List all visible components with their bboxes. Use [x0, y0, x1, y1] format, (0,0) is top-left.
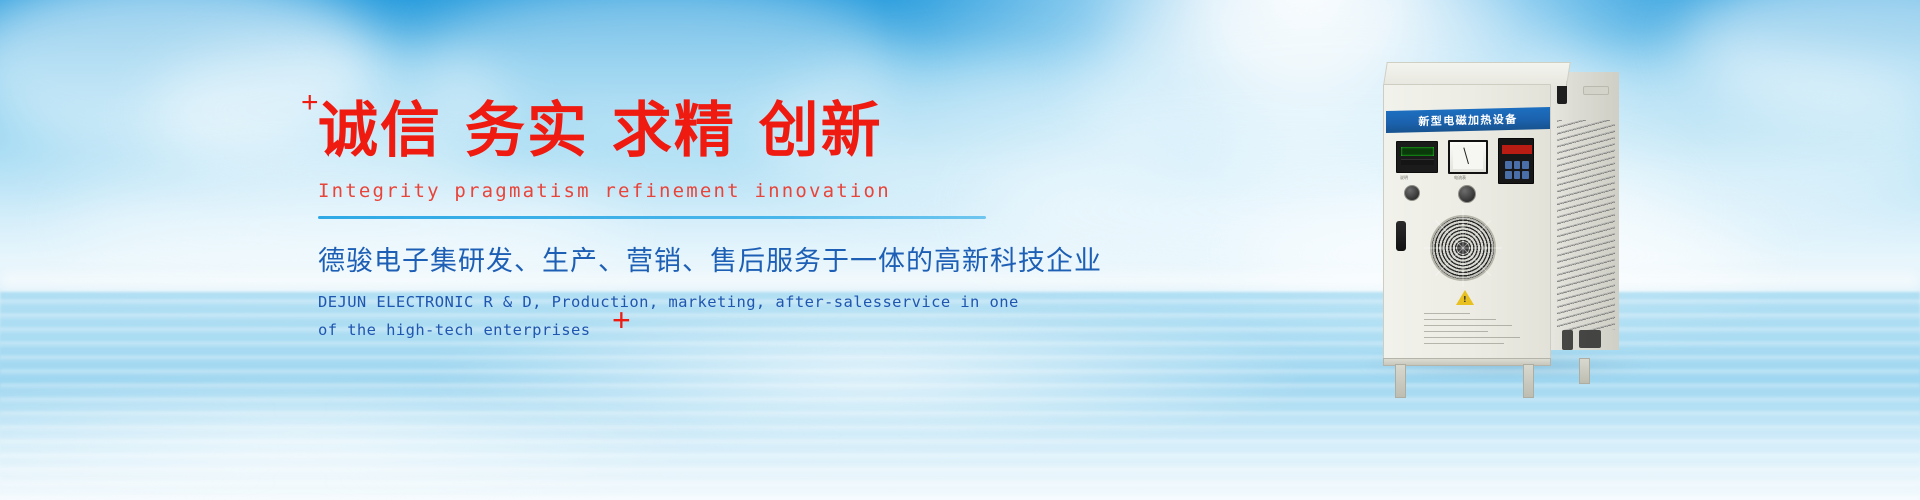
keypad-key	[1522, 171, 1529, 179]
control-knob-row: 说明 电流表	[1392, 185, 1544, 207]
side-vent-highlights	[1557, 120, 1615, 330]
mode-selector-knob-icon	[1404, 185, 1420, 201]
keypad-buttons	[1505, 161, 1529, 179]
machine-foot	[1579, 358, 1590, 384]
product-label-text: 新型电磁加热设备	[1418, 111, 1517, 129]
spec-line	[1424, 331, 1488, 332]
meter-face	[1453, 145, 1483, 169]
machine-side-panel	[1545, 72, 1619, 350]
control-instrument-row	[1392, 141, 1544, 183]
spec-line	[1424, 337, 1520, 338]
specification-text-block	[1424, 313, 1532, 349]
banner-divider	[318, 216, 986, 219]
digital-keypad-panel-icon	[1498, 138, 1534, 184]
keypad-key	[1505, 171, 1512, 179]
analog-ammeter-icon	[1448, 140, 1488, 174]
keypad-key	[1514, 171, 1521, 179]
product-image-heating-equipment: 新型电磁加热设备	[1383, 62, 1619, 362]
spec-line	[1424, 343, 1504, 344]
keypad-key	[1514, 161, 1521, 169]
bottom-vent-icon	[1562, 330, 1573, 350]
machine-top-cap	[1383, 62, 1571, 86]
knob-label-1: 说明	[1400, 175, 1408, 181]
keypad-key	[1522, 161, 1529, 169]
banner-headline-en: Integrity pragmatism refinement innovati…	[318, 180, 1038, 202]
product-label-banner: 新型电磁加热设备	[1386, 107, 1550, 133]
plus-decoration-icon: +	[301, 88, 319, 118]
display-segment	[1401, 147, 1434, 156]
machine-front-door: 新型电磁加热设备	[1383, 84, 1551, 360]
machine-foot	[1395, 364, 1406, 398]
high-voltage-warning-icon	[1456, 290, 1474, 305]
description-line-1: DEJUN ELECTRONIC R & D, Production, mark…	[318, 288, 1038, 317]
keypad-display	[1502, 145, 1532, 154]
temperature-controller-icon	[1396, 141, 1438, 173]
door-latch-icon	[1396, 221, 1406, 251]
display-segment-secondary	[1401, 159, 1434, 165]
banner-tagline-cn: 德骏电子集研发、生产、营销、售后服务于一体的高新科技企业	[318, 239, 1038, 278]
meter-needle	[1463, 148, 1469, 165]
power-selector-knob-icon	[1458, 185, 1476, 203]
water-reflection-glow	[0, 380, 700, 500]
banner-copy-block: 诚信 务实 求精 创新 Integrity pragmatism refinem…	[318, 96, 1038, 345]
spec-line	[1424, 319, 1496, 320]
hero-banner: + + 诚信 务实 求精 创新 Integrity pragmatism ref…	[0, 0, 1920, 500]
machine-foot	[1523, 364, 1534, 398]
knob-label-2: 电流表	[1454, 175, 1466, 181]
keypad-key	[1505, 161, 1512, 169]
top-side-vent	[1583, 86, 1609, 95]
spec-line	[1424, 313, 1470, 314]
spec-line	[1424, 325, 1512, 326]
banner-headline-cn: 诚信 务实 求精 创新	[318, 96, 1038, 167]
description-line-2: of the high-tech enterprises	[318, 316, 1038, 345]
banner-description-en: DEJUN ELECTRONIC R & D, Production, mark…	[318, 288, 1038, 345]
fan-cross-brace	[1424, 209, 1502, 287]
bottom-vent-icon	[1579, 330, 1601, 348]
